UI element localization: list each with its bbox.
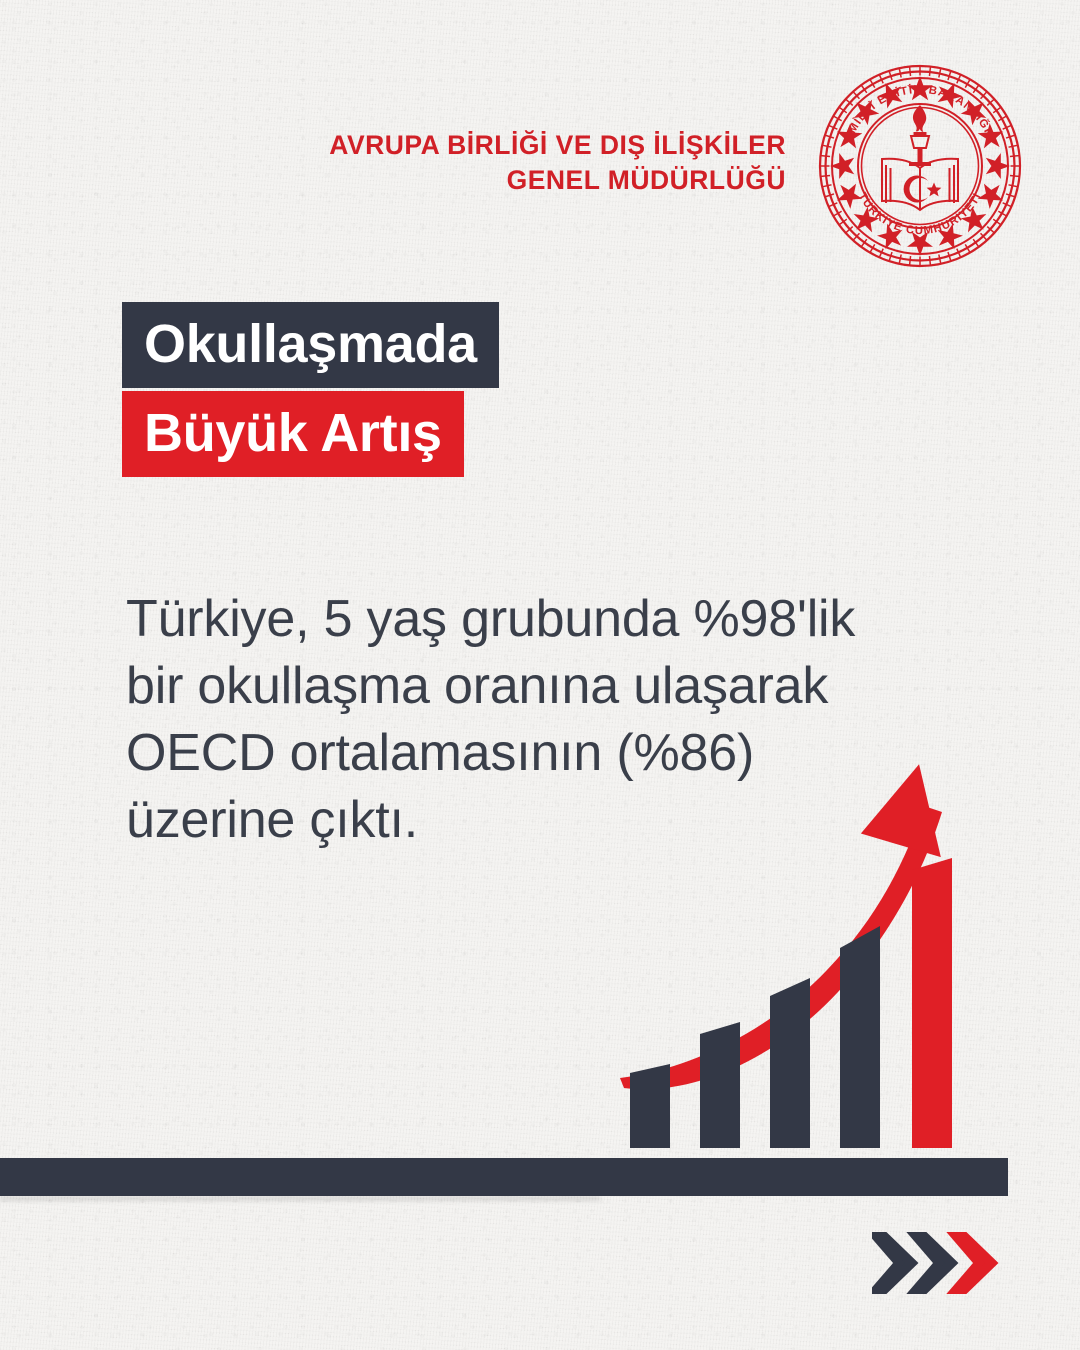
footer-bar-shadow [0,1196,600,1201]
org-name-line-1: AVRUPA BİRLİĞİ VE DIŞ İLİŞKİLER [280,128,786,163]
chevron-decoration [872,1232,1012,1294]
org-name-line-2: GENEL MÜDÜRLÜĞÜ [280,163,786,198]
bar-1 [630,1064,670,1148]
ministry-emblem-icon: MİLLİ EĞİTİM BAKANLIĞI TÜRKİYE CUMHURİYE… [816,62,1024,270]
emblem-torch-icon [909,105,931,166]
body-line-2: bir okullaşma oranına ulaşarak [126,653,926,720]
bar-5 [912,858,952,1148]
chevron-3-icon [954,1234,992,1292]
bar-2 [700,1022,740,1148]
growth-bar-chart-illustration [612,748,1032,1168]
bar-3 [770,978,810,1148]
emblem-open-book-icon [882,159,958,210]
headline-line-2: Büyük Artış [122,391,464,477]
headline: Okullaşmada Büyük Artış [122,302,499,477]
footer-bar [0,1158,1008,1196]
bar-4 [840,926,880,1148]
chevron-1-icon [874,1234,912,1292]
headline-line-1: Okullaşmada [122,302,499,388]
chart-bars [630,858,952,1148]
body-line-1: Türkiye, 5 yaş grubunda %98'lik [126,586,926,653]
emblem-crescent-star-icon [904,176,942,203]
organization-header: AVRUPA BİRLİĞİ VE DIŞ İLİŞKİLER GENEL MÜ… [280,128,786,198]
infographic-poster: AVRUPA BİRLİĞİ VE DIŞ İLİŞKİLER GENEL MÜ… [0,0,1080,1350]
chevron-2-icon [914,1234,952,1292]
